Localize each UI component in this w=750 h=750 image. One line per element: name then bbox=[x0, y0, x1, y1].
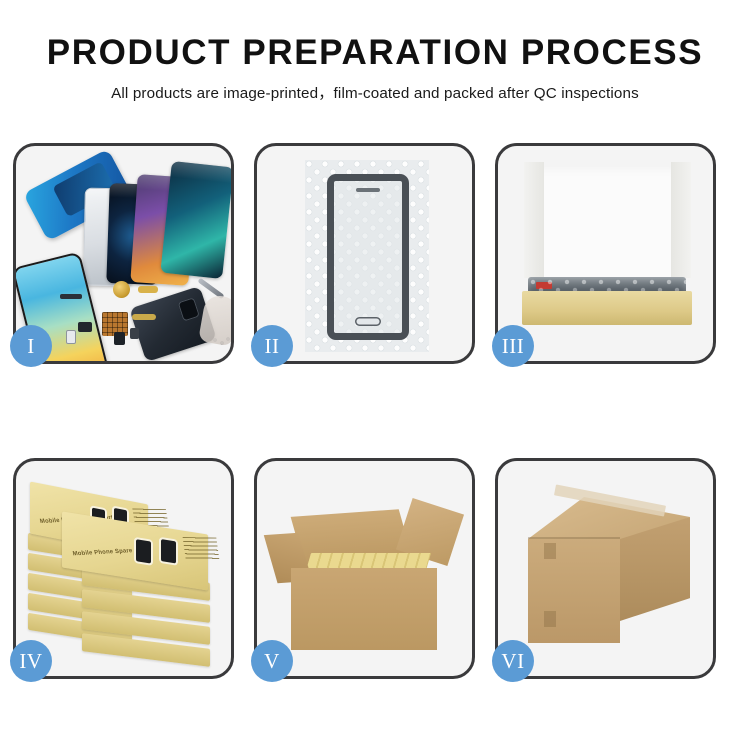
page-title: PRODUCT PREPARATION PROCESS bbox=[0, 34, 750, 72]
process-step-2: II bbox=[254, 143, 475, 364]
flex-cable-a bbox=[138, 286, 158, 293]
box-art-screen-d bbox=[161, 539, 176, 563]
carton-body-open bbox=[291, 568, 437, 650]
connector-b bbox=[114, 332, 125, 345]
process-step-4: Mobile Phone Spare Parts Mobile Phone Sp… bbox=[13, 458, 234, 679]
step-badge-6: VI bbox=[492, 640, 534, 682]
box-art-screen-c bbox=[136, 539, 151, 563]
process-step-5: V bbox=[254, 458, 475, 679]
step-badge-3: III bbox=[492, 325, 534, 367]
bubble-wrap bbox=[305, 160, 429, 352]
step-3-image bbox=[498, 146, 713, 361]
component-bar bbox=[60, 294, 82, 299]
step-badge-5: V bbox=[251, 640, 293, 682]
carton-tab-lower bbox=[544, 611, 556, 627]
step-badge-2: II bbox=[251, 325, 293, 367]
product-preparation-infographic: PRODUCT PREPARATION PROCESS All products… bbox=[0, 0, 750, 750]
header: PRODUCT PREPARATION PROCESS All products… bbox=[0, 34, 750, 103]
step-1-image bbox=[16, 146, 231, 361]
box-lid-right bbox=[671, 162, 691, 278]
step-4-image: Mobile Phone Spare Parts Mobile Phone Sp… bbox=[16, 461, 231, 676]
process-step-6: VI bbox=[495, 458, 716, 679]
kraft-box-front bbox=[522, 291, 692, 325]
box-lid-left bbox=[524, 162, 544, 278]
component-coil bbox=[113, 281, 130, 298]
phone-display-teal bbox=[160, 161, 231, 279]
carton-tab-upper bbox=[544, 543, 556, 559]
camera-module bbox=[66, 330, 76, 344]
connector-a bbox=[78, 322, 92, 332]
screen-speaker-slot bbox=[356, 188, 380, 192]
wrapped-screen bbox=[327, 174, 409, 340]
foam-insert bbox=[528, 166, 686, 290]
carton-front-face bbox=[528, 539, 620, 643]
connector-c bbox=[130, 328, 139, 339]
screen-home-button bbox=[355, 317, 381, 326]
carton-seam bbox=[528, 537, 620, 539]
step-6-image bbox=[498, 461, 713, 676]
process-step-3: III bbox=[495, 143, 716, 364]
step-badge-4: IV bbox=[10, 640, 52, 682]
page-subtitle: All products are image-printed，film-coat… bbox=[0, 81, 750, 103]
step-badge-1: I bbox=[10, 325, 52, 367]
step-2-image bbox=[257, 146, 472, 361]
red-label-sticker bbox=[536, 282, 552, 289]
process-step-1: I bbox=[13, 143, 234, 364]
flex-cable-b bbox=[132, 314, 156, 320]
step-5-image bbox=[257, 461, 472, 676]
box-spec-lines-front bbox=[183, 537, 220, 560]
process-steps-grid: I II bbox=[13, 143, 737, 687]
